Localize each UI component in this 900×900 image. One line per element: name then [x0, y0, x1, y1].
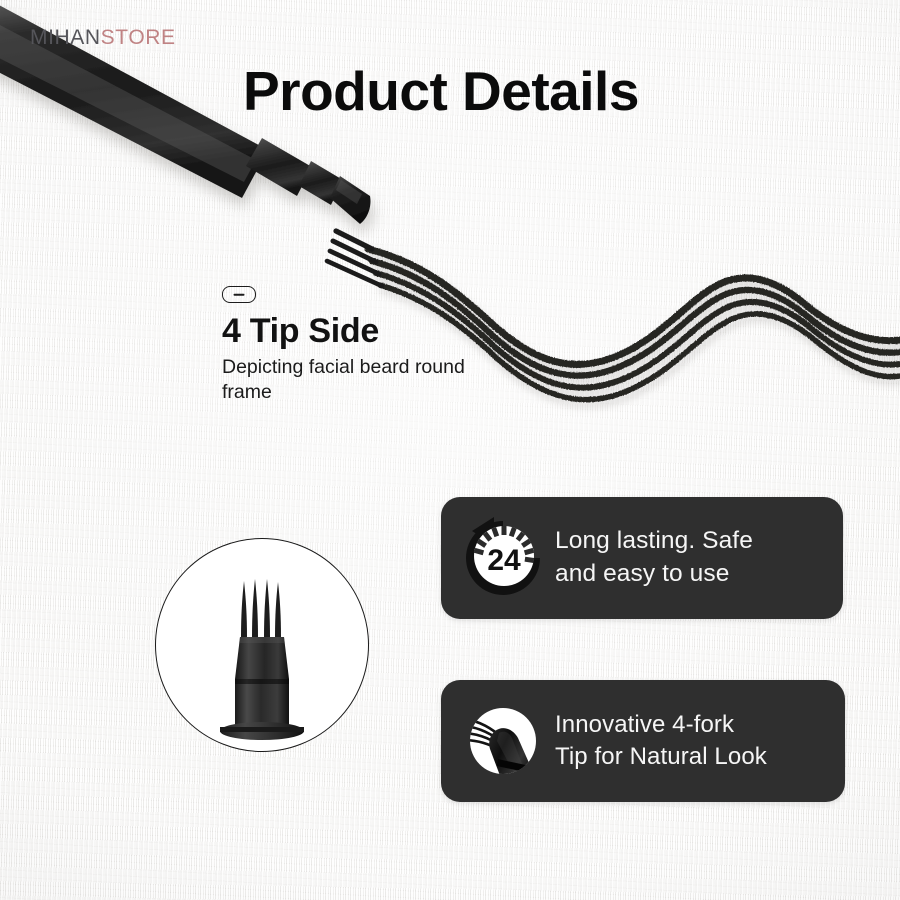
feature-card-2-text: Innovative 4-fork Tip for Natural Look — [547, 709, 831, 773]
tip-side-block: 4 Tip Side Depicting facial beard round … — [222, 286, 502, 405]
pill-dash-badge-icon — [222, 286, 256, 303]
four-fork-tip-icon — [459, 697, 547, 785]
feature-card-1-text: Long lasting. Safe and easy to use — [547, 525, 827, 590]
tip-prongs — [241, 579, 281, 637]
page-title: Product Details — [243, 63, 639, 121]
brand-logo-part-b: STORE — [101, 26, 176, 49]
brand-logo-part-a: MIHAN — [30, 26, 101, 49]
clock-24-hour-icon: 24 — [459, 514, 547, 602]
brand-logo: MIHANSTORE — [30, 26, 176, 50]
feature-card-four-fork[interactable]: Innovative 4-fork Tip for Natural Look — [441, 680, 845, 802]
tip-side-heading: 4 Tip Side — [222, 313, 502, 350]
clock-icon-label: 24 — [487, 544, 521, 577]
feature-card-long-lasting[interactable]: 24 Long lasting. Safe and easy to use — [441, 497, 843, 619]
pen-prongs — [327, 231, 382, 286]
pen-tip-illustration — [156, 539, 368, 751]
four-prong-tip-closeup — [155, 538, 369, 752]
product-details-page: MIHANSTORE Product Details 4 Tip Side De… — [0, 0, 900, 900]
tip-side-subtitle: Depicting facial beard round frame — [222, 355, 472, 405]
